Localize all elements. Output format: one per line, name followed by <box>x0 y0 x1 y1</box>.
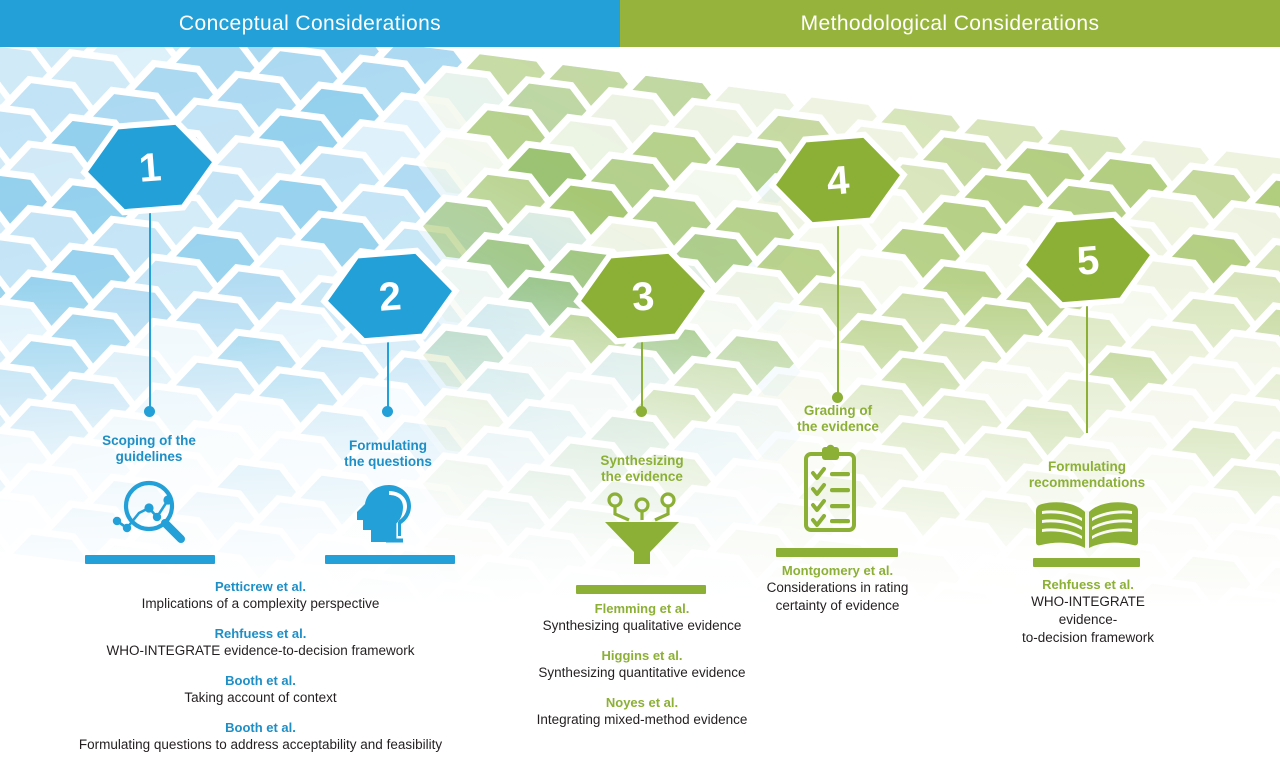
header-methodological-label: Methodological Considerations <box>801 12 1100 36</box>
reference-title: Synthesizing qualitative evidence <box>512 617 772 635</box>
reference-item: Noyes et al. Integrating mixed-method ev… <box>512 694 772 729</box>
reference-title: Synthesizing quantitative evidence <box>512 664 772 682</box>
header-conceptual: Conceptual Considerations <box>0 0 620 47</box>
step-4-icon <box>800 444 874 540</box>
funnel-body <box>605 522 679 564</box>
step-2-title: Formulating the questions <box>288 438 488 470</box>
step-4-connector-dot <box>832 392 843 403</box>
reference-title: Taking account of context <box>38 689 483 707</box>
step-4-underbar <box>776 548 898 557</box>
reference-title: Considerations in rating certainty of ev… <box>755 579 920 615</box>
reference-author: Rehfuess et al. <box>38 625 483 642</box>
head-question-icon <box>357 485 411 543</box>
step-2-underbar <box>325 555 455 564</box>
reference-title: WHO-INTEGRATE evidence-to-decision frame… <box>38 642 483 660</box>
step-2-connector-line <box>387 330 389 413</box>
reference-author: Flemming et al. <box>512 600 772 617</box>
reference-author: Montgomery et al. <box>755 562 920 579</box>
step-5-connector-line <box>1086 298 1088 433</box>
reference-title: Formulating questions to address accepta… <box>38 736 483 754</box>
clipboard-checklist-icon <box>806 445 854 530</box>
step-1-connector-dot <box>144 406 155 417</box>
step-1-connector-line <box>149 195 151 413</box>
reference-title: Integrating mixed-method evidence <box>512 711 772 729</box>
reference-title: Implications of a complexity perspective <box>38 595 483 613</box>
reference-author: Higgins et al. <box>512 647 772 664</box>
step-5-underbar <box>1033 558 1140 567</box>
reference-author: Booth et al. <box>38 672 483 689</box>
reference-title: WHO-INTEGRATE evidence- to-decision fram… <box>1004 593 1172 647</box>
reference-item: Rehfuess et al. WHO-INTEGRATE evidence-t… <box>38 625 483 660</box>
reference-author: Booth et al. <box>38 719 483 736</box>
reference-item: Higgins et al. Synthesizing quantitative… <box>512 647 772 682</box>
infographic-canvas: Conceptual Considerations Methodological… <box>0 0 1280 777</box>
step-3-title: Synthesizing the evidence <box>542 453 742 485</box>
reference-item: Rehfuess et al. WHO-INTEGRATE evidence- … <box>1004 576 1172 647</box>
step-3-icon <box>597 490 687 568</box>
step-3-references: Flemming et al. Synthesizing qualitative… <box>512 600 772 729</box>
step-3-connector-line <box>641 333 643 413</box>
step-4-references: Montgomery et al. Considerations in rati… <box>755 562 920 615</box>
step-2-icon <box>343 480 433 548</box>
step-5-title: Formulating recommendations <box>987 459 1187 491</box>
reference-item: Flemming et al. Synthesizing qualitative… <box>512 600 772 635</box>
reference-item: Booth et al. Taking account of context <box>38 672 483 707</box>
step-1-title: Scoping of the guidelines <box>49 433 249 465</box>
reference-item: Montgomery et al. Considerations in rati… <box>755 562 920 615</box>
step-5-references: Rehfuess et al. WHO-INTEGRATE evidence- … <box>1004 576 1172 647</box>
step-1-icon <box>99 476 199 546</box>
step-2-connector-dot <box>382 406 393 417</box>
step-4-title: Grading of the evidence <box>738 403 938 435</box>
reference-item: Petticrew et al. Implications of a compl… <box>38 578 483 613</box>
header-conceptual-label: Conceptual Considerations <box>179 12 441 36</box>
conceptual-references: Petticrew et al. Implications of a compl… <box>38 578 483 754</box>
funnel-nodes-icon <box>609 494 674 520</box>
reference-author: Petticrew et al. <box>38 578 483 595</box>
open-book-icon <box>1036 502 1138 548</box>
reference-item: Booth et al. Formulating questions to ad… <box>38 719 483 754</box>
step-1-underbar <box>85 555 215 564</box>
step-3-underbar <box>576 585 706 594</box>
reference-author: Rehfuess et al. <box>1004 576 1172 593</box>
header-methodological: Methodological Considerations <box>620 0 1280 47</box>
step-4-connector-line <box>837 214 839 399</box>
reference-author: Noyes et al. <box>512 694 772 711</box>
step-5-icon <box>1032 498 1142 552</box>
step-3-connector-dot <box>636 406 647 417</box>
